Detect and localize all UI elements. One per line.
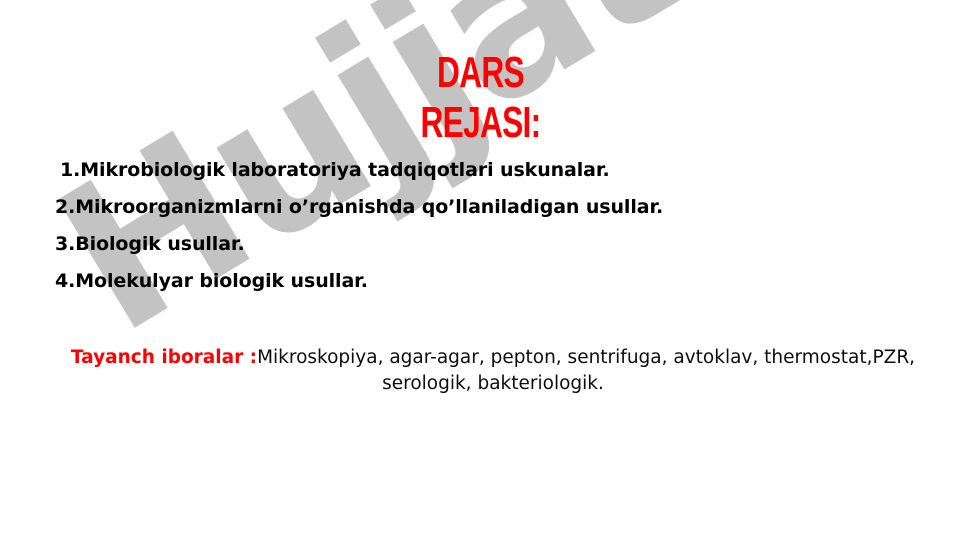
title-line-1: DARS — [135, 48, 827, 98]
list-item: 2.Mikroorganizmlarni o’rganishda qo’llan… — [55, 189, 921, 226]
list-item: 3.Biologik usullar. — [55, 226, 921, 263]
keywords-paragraph: Tayanch iboralar :Mikroskopiya, agar-aga… — [70, 345, 916, 397]
page-title: DARS REJASI: — [0, 48, 961, 148]
keywords-text: Mikroskopiya, agar-agar, pepton, sentrif… — [257, 347, 915, 394]
list-item: 1.Mikrobiologik laboratoriya tadqiqotlar… — [55, 152, 921, 189]
title-line-2: REJASI: — [135, 98, 827, 148]
agenda-list: 1.Mikrobiologik laboratoriya tadqiqotlar… — [55, 152, 921, 300]
slide-canvas: DARS REJASI: 1.Mikrobiologik laboratoriy… — [0, 0, 961, 540]
list-item: 4.Molekulyar biologik usullar. — [55, 263, 921, 300]
keywords-label: Tayanch iboralar : — [71, 347, 257, 368]
